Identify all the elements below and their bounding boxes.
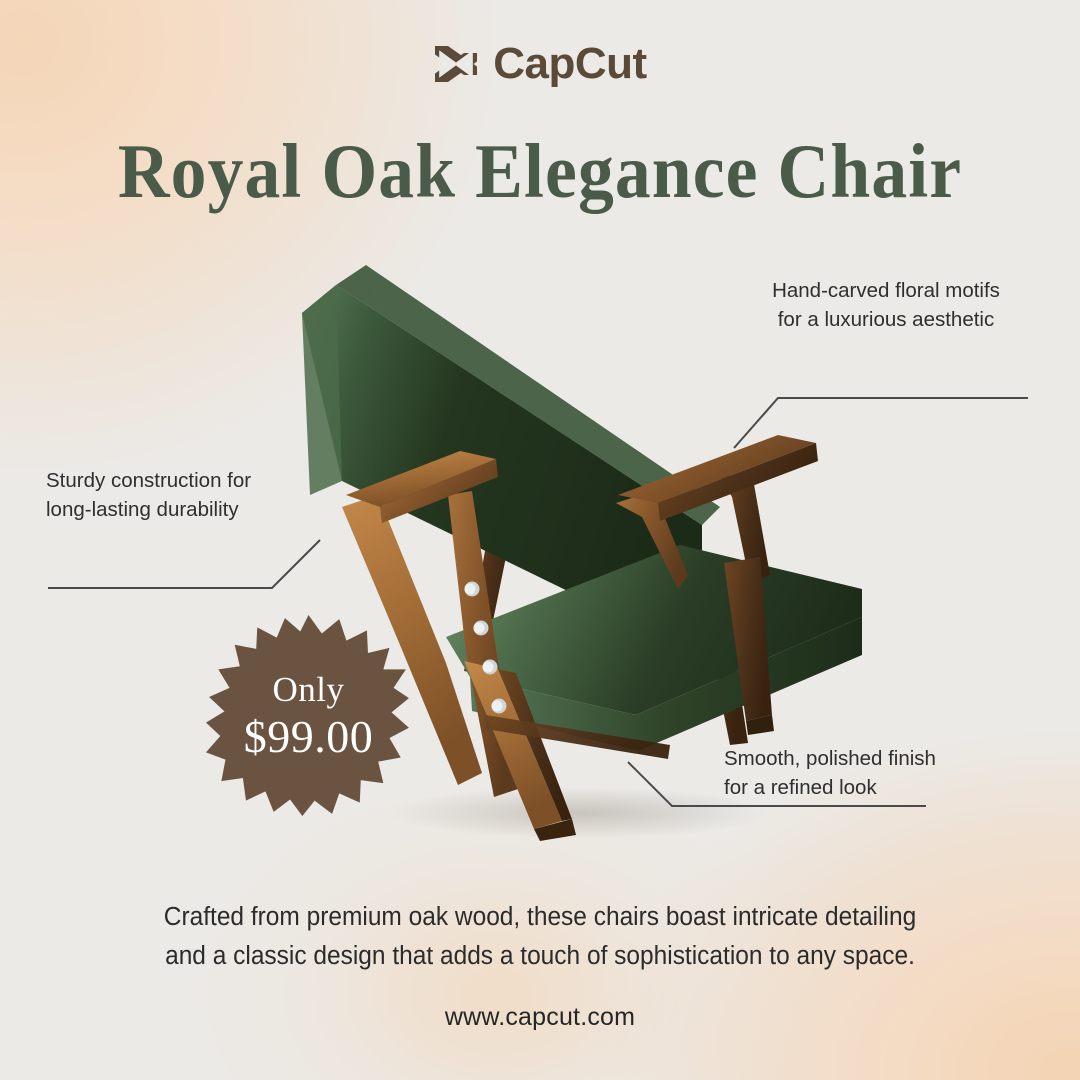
brand-name: CapCut [493,42,646,86]
page-title: Royal Oak Elegance Chair [38,131,1042,212]
product-description-line2: and a classic design that adds a touch o… [22,937,1059,976]
callout-sturdy-line1: Sturdy construction for [46,466,326,495]
callout-hand-carved-line1: Hand-carved floral motifs [736,276,1036,305]
callout-sturdy-leader-line [46,522,336,602]
callout-hand-carved-leader-line [734,332,1034,462]
product-description: Crafted from premium oak wood, these cha… [22,898,1059,976]
price-badge[interactable]: Only $99.00 [206,613,411,818]
starburst-shape-icon [206,613,411,818]
poster-canvas: CapCut Royal Oak Elegance Chair [0,0,1080,1080]
callout-sturdy: Sturdy construction for long-lasting dur… [46,466,326,524]
product-description-line1: Crafted from premium oak wood, these cha… [22,898,1059,937]
callout-hand-carved-line2: for a luxurious aesthetic [736,305,1036,334]
callout-hand-carved: Hand-carved floral motifs for a luxuriou… [736,276,1036,334]
callout-smooth: Smooth, polished finish for a refined lo… [626,744,936,802]
capcut-logo-icon [433,44,479,84]
callout-smooth-leader-line [626,754,936,844]
website-url[interactable]: www.capcut.com [0,1003,1080,1032]
callout-sturdy-line2: long-lasting durability [46,495,326,524]
brand-logo[interactable]: CapCut [0,42,1080,86]
